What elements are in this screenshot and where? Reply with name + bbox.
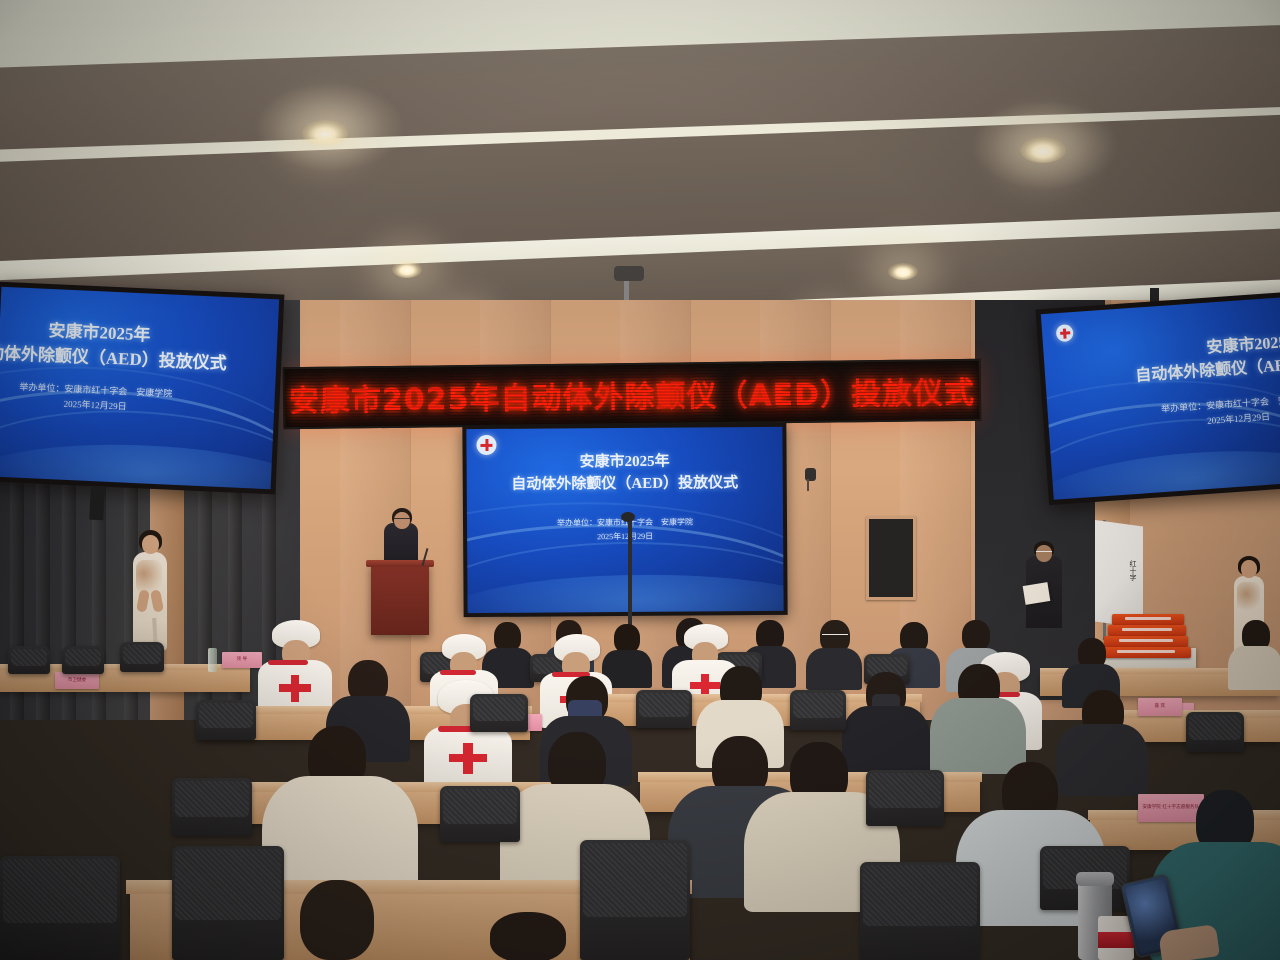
placard: 领 导 [222, 652, 262, 668]
aed-case [1108, 625, 1186, 636]
chair [8, 646, 50, 674]
aed-case [1112, 614, 1184, 625]
ceiling-spotlight [392, 261, 422, 278]
water-glass [208, 648, 217, 672]
event-photo-scene: 安康市2025年自动体外除颤仪（AED）投放仪式 安康市2025年 自动体外除颤… [0, 0, 1280, 960]
placard: 市卫健委 [55, 672, 99, 689]
placard: 嘉 宾 [1138, 698, 1182, 716]
microphone-stand [628, 520, 632, 640]
chair [580, 840, 690, 960]
placard: 安康学院 红十字志愿服务队 [1138, 794, 1204, 822]
thermos-cap [1076, 872, 1114, 886]
tv-left-stand [89, 486, 105, 521]
slide-title-center: 安康市2025年 自动体外除颤仪（AED）投放仪式 [467, 451, 783, 497]
security-camera-icon [805, 468, 816, 481]
ceiling-spotlight [888, 263, 918, 280]
chair [860, 862, 980, 960]
flag-text: 红十字 [1110, 560, 1136, 581]
aed-case [1104, 636, 1188, 647]
chair [172, 846, 284, 960]
chair [440, 786, 520, 842]
chair [62, 646, 104, 674]
ceiling-spotlight [1020, 137, 1066, 163]
glasses-icon [822, 634, 848, 638]
chair [790, 690, 846, 730]
slide-right: 安康市2025年 自动体外除颤仪（AED）投放仪式 举办单位：安康市红十字会 安… [1041, 296, 1280, 500]
microphone-head-icon [621, 512, 635, 522]
aed-case [1101, 647, 1191, 658]
led-banner: 安康市2025年自动体外除颤仪（AED）投放仪式 [283, 359, 982, 430]
chair [470, 694, 528, 732]
tv-display-right: 安康市2025年 自动体外除颤仪（AED）投放仪式 举办单位：安康市红十字会 安… [1035, 291, 1280, 505]
ceiling-spotlight [302, 120, 348, 146]
tv-display-left: 安康市2025年 自动体外除颤仪（AED）投放仪式 举办单位：安康市红十字会 安… [0, 282, 284, 495]
chair [866, 770, 944, 826]
slide-title-right: 安康市2025年 自动体外除颤仪（AED）投放仪式 [1089, 322, 1280, 391]
red-cross-emblem-icon [1056, 324, 1074, 342]
beverage-can-label [1098, 932, 1134, 948]
chair [120, 642, 164, 672]
chair [172, 778, 252, 836]
wall-service-window [866, 516, 916, 600]
chair [1186, 712, 1244, 752]
led-banner-text: 安康市2025年自动体外除颤仪（AED）投放仪式 [289, 368, 976, 420]
ceiling-projector-mount [614, 266, 644, 281]
podium [371, 563, 429, 635]
chair [0, 856, 120, 960]
chair [636, 690, 692, 728]
slide-left: 安康市2025年 自动体外除颤仪（AED）投放仪式 举办单位：安康市红十字会 安… [0, 287, 279, 489]
chair [196, 700, 256, 740]
